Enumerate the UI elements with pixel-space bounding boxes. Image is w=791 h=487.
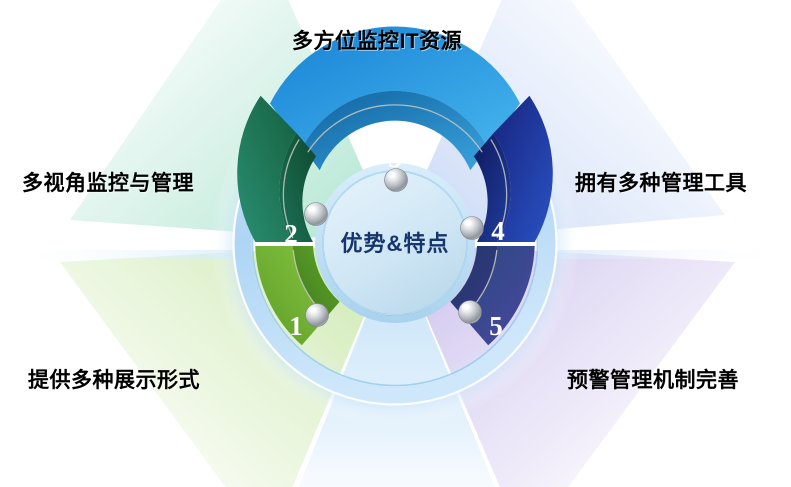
marker-sphere-1[interactable] xyxy=(306,304,329,327)
wheel-graphic: 优势&特点 1 2 3 4 5 xyxy=(0,0,791,487)
label-top-right: 拥有多种管理工具 xyxy=(575,167,747,197)
label-bottom-left: 提供多种展示形式 xyxy=(28,364,200,394)
label-top-center: 多方位监控IT资源 xyxy=(292,25,462,55)
segment-number-4: 4 xyxy=(491,216,505,246)
label-top-left: 多视角监控与管理 xyxy=(22,167,194,197)
segment-number-2: 2 xyxy=(284,219,298,249)
diagram-canvas: 优势&特点 1 2 3 4 5 多视角监控与管理 多方位监控IT资源 xyxy=(0,0,791,487)
segment-number-1: 1 xyxy=(289,311,303,341)
label-bottom-right: 预警管理机制完善 xyxy=(567,364,739,394)
segment-number-5: 5 xyxy=(489,311,503,341)
marker-sphere-5[interactable] xyxy=(459,301,482,324)
center-label: 优势&特点 xyxy=(341,231,450,256)
marker-sphere-2[interactable] xyxy=(305,203,328,226)
marker-sphere-4[interactable] xyxy=(461,217,484,240)
segment-number-3: 3 xyxy=(388,143,402,173)
